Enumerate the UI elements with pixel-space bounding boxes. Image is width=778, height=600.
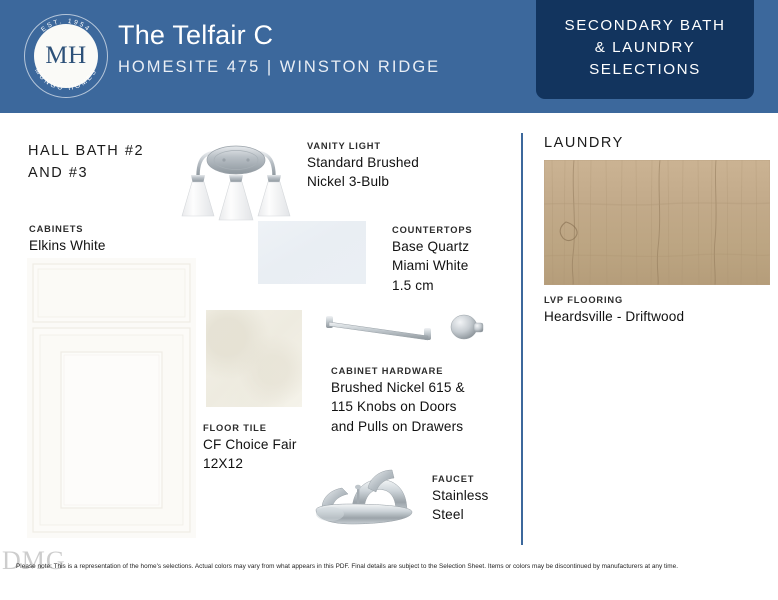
item-faucet: FAUCET Stainless Steel bbox=[432, 473, 489, 525]
vanity-light-value: Standard Brushed Nickel 3-Bulb bbox=[307, 153, 419, 192]
countertop-swatch bbox=[258, 221, 366, 284]
header-title-block: The Telfair C HOMESITE 475 | WINSTON RID… bbox=[118, 21, 440, 77]
page-header: MH EST. 1954 MUNGO HOMES The Telfair C H… bbox=[0, 0, 778, 113]
cabinet-door-image bbox=[27, 258, 196, 538]
cabinets-caption: CABINETS bbox=[29, 223, 106, 235]
vanity-light-caption: VANITY LIGHT bbox=[307, 140, 419, 152]
floor-tile-value: CF Choice Fair 12X12 bbox=[203, 435, 297, 474]
countertops-caption: COUNTERTOPS bbox=[392, 224, 472, 236]
homesite-subtitle: HOMESITE 475 | WINSTON RIDGE bbox=[118, 58, 440, 77]
lvp-flooring-caption: LVP FLOORING bbox=[544, 294, 684, 306]
item-cabinets: CABINETS Elkins White bbox=[29, 223, 106, 255]
section-title-laundry: LAUNDRY bbox=[544, 135, 624, 151]
logo-monogram: MH bbox=[34, 24, 98, 88]
selection-category-panel: SECONDARY BATH & LAUNDRY SELECTIONS bbox=[536, 0, 754, 99]
item-cabinet-hardware: CABINET HARDWARE Brushed Nickel 615 & 11… bbox=[331, 365, 465, 436]
selection-category-title: SECONDARY BATH & LAUNDRY SELECTIONS bbox=[565, 4, 726, 81]
lvp-flooring-value: Heardsville - Driftwood bbox=[544, 307, 684, 326]
item-countertops: COUNTERTOPS Base Quartz Miami White 1.5 … bbox=[392, 224, 472, 295]
section-title-hall-bath: HALL BATH #2 AND #3 bbox=[28, 141, 144, 185]
cabinet-hardware-value: Brushed Nickel 615 & 115 Knobs on Doors … bbox=[331, 378, 465, 436]
faucet-value: Stainless Steel bbox=[432, 486, 489, 525]
floor-tile-caption: FLOOR TILE bbox=[203, 422, 297, 434]
selections-sheet: MH EST. 1954 MUNGO HOMES The Telfair C H… bbox=[0, 0, 778, 600]
header-right: SECONDARY BATH & LAUNDRY SELECTIONS bbox=[512, 0, 778, 113]
cabinet-hardware-caption: CABINET HARDWARE bbox=[331, 365, 465, 377]
floor-tile-swatch bbox=[206, 310, 302, 407]
plan-title: The Telfair C bbox=[118, 21, 440, 51]
cabinet-knob-image bbox=[448, 310, 486, 348]
item-lvp-flooring: LVP FLOORING Heardsville - Driftwood bbox=[544, 294, 684, 326]
faucet-caption: FAUCET bbox=[432, 473, 489, 485]
cabinet-pull-image bbox=[322, 310, 442, 350]
cabinets-value: Elkins White bbox=[29, 236, 106, 255]
faucet-image bbox=[308, 458, 426, 536]
header-left: MH EST. 1954 MUNGO HOMES The Telfair C H… bbox=[0, 0, 512, 113]
mungo-homes-logo: MH EST. 1954 MUNGO HOMES bbox=[22, 12, 110, 100]
item-vanity-light: VANITY LIGHT Standard Brushed Nickel 3-B… bbox=[307, 140, 419, 192]
column-divider bbox=[521, 133, 523, 545]
vanity-light-image bbox=[168, 136, 304, 224]
item-floor-tile: FLOOR TILE CF Choice Fair 12X12 bbox=[203, 422, 297, 474]
footer-disclaimer: Please note: This is a representation of… bbox=[16, 563, 768, 571]
lvp-flooring-swatch bbox=[544, 160, 770, 285]
countertops-value: Base Quartz Miami White 1.5 cm bbox=[392, 237, 472, 295]
